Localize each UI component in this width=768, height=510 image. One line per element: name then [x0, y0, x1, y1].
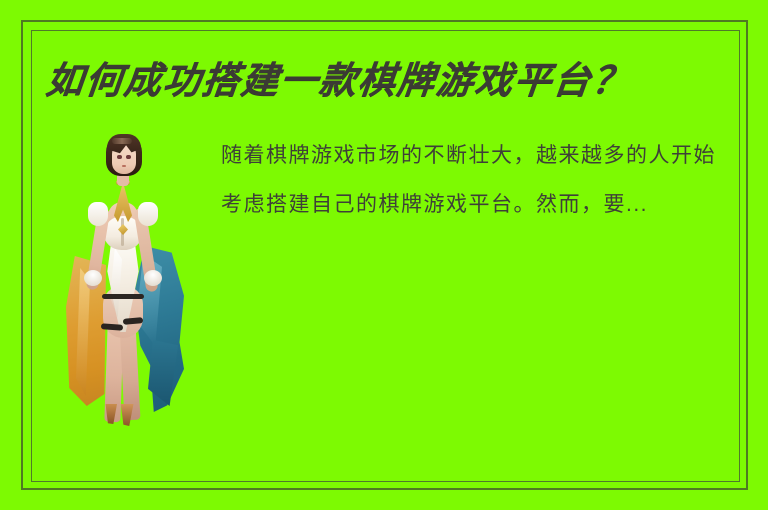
left-eye-icon: [117, 155, 122, 159]
hair-shine-icon: [112, 138, 132, 144]
mouth-icon: [122, 165, 126, 167]
character-illustration: [62, 128, 186, 420]
article-card: 如何成功搭建一款棋牌游戏平台？ 随着棋牌游戏市场的不断壮大，越来越多的人开始考虑…: [0, 0, 768, 510]
left-cuff-icon: [84, 270, 102, 286]
teal-cloth-tail-icon: [148, 340, 178, 406]
left-sleeve-icon: [88, 202, 108, 226]
article-excerpt: 随着棋牌游戏市场的不断壮大，越来越多的人开始考虑搭建自己的棋牌游戏平台。然而，要…: [221, 131, 733, 229]
right-cuff-icon: [144, 270, 162, 286]
hip-strap-icon: [102, 294, 144, 299]
page-title: 如何成功搭建一款棋牌游戏平台？: [43, 55, 709, 109]
right-sleeve-icon: [138, 202, 158, 226]
right-eye-icon: [126, 155, 131, 159]
